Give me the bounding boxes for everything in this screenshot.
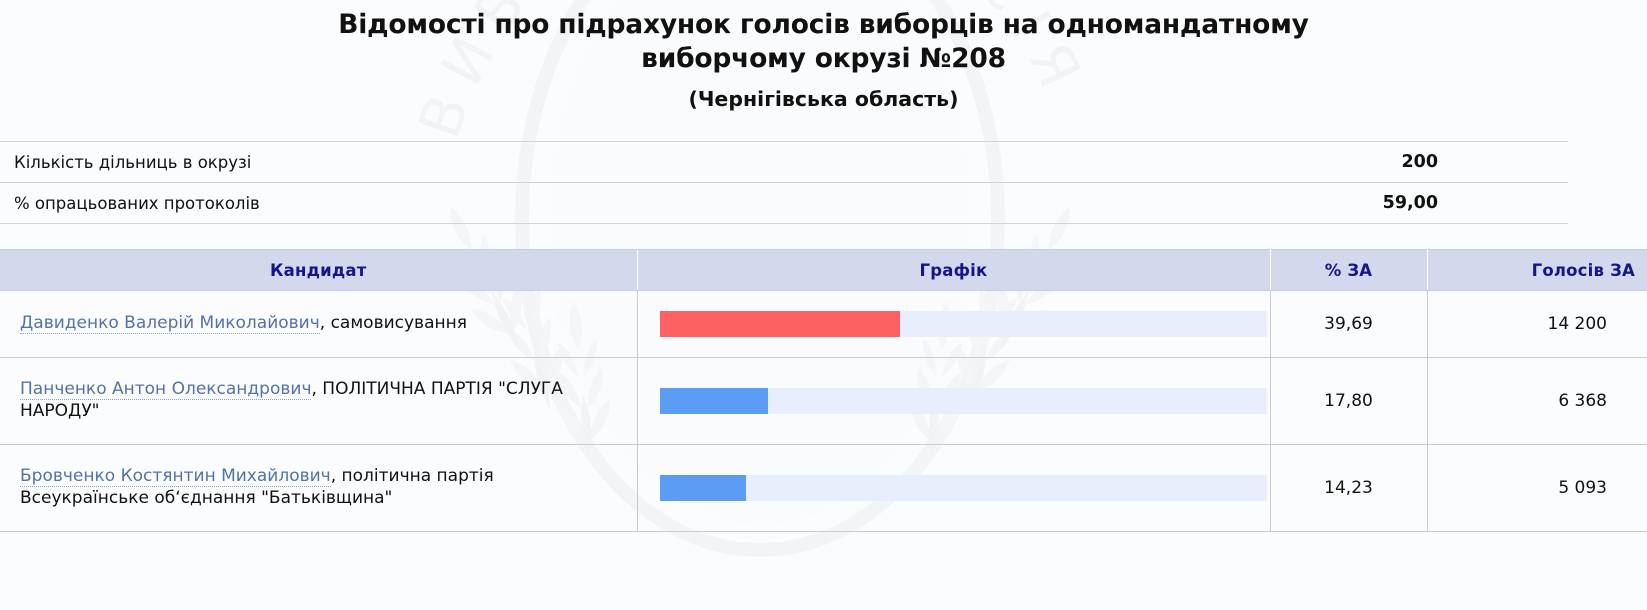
bar-fill <box>660 475 746 501</box>
bar-track <box>660 388 1267 414</box>
page-subtitle: (Чернігівська область) <box>0 87 1647 111</box>
results-header-row: Кандидат Графік % ЗА Голосів ЗА <box>0 250 1647 291</box>
percent-cell: 39,69 <box>1270 291 1427 358</box>
bar-fill <box>660 388 768 414</box>
summary-label-protocols: % опрацьованих протоколів <box>0 183 784 224</box>
page-root: Відомості про підрахунок голосів виборці… <box>0 0 1647 474</box>
candidate-name-link[interactable]: Бровченко Костянтин Михайлович <box>20 466 331 487</box>
summary-row-precincts: Кількість дільниць в окрузі 200 <box>0 142 1568 183</box>
candidate-cell: Бровченко Костянтин Михайлович, політичн… <box>0 445 637 532</box>
results-table-body: Давиденко Валерій Миколайович, самовисув… <box>0 291 1647 532</box>
table-row: Бровченко Костянтин Михайлович, політичн… <box>0 445 1647 532</box>
chart-cell <box>637 358 1270 445</box>
percent-cell: 17,80 <box>1270 358 1427 445</box>
percent-cell: 14,23 <box>1270 445 1427 532</box>
summary-value-protocols: 59,00 <box>784 183 1568 224</box>
column-header-chart[interactable]: Графік <box>637 250 1270 291</box>
candidate-cell: Панченко Антон Олександрович, ПОЛІТИЧНА … <box>0 358 637 445</box>
table-row: Давиденко Валерій Миколайович, самовисув… <box>0 291 1647 358</box>
page-title: Відомості про підрахунок голосів виборці… <box>300 8 1348 75</box>
results-table-head: Кандидат Графік % ЗА Голосів ЗА <box>0 250 1647 291</box>
candidate-party-label: , самовисування <box>320 313 467 333</box>
summary-table: Кількість дільниць в окрузі 200 % опраць… <box>0 141 1568 224</box>
summary-value-precincts: 200 <box>784 142 1568 183</box>
votes-cell: 5 093 <box>1427 445 1647 532</box>
chart-cell <box>637 291 1270 358</box>
title-block: Відомості про підрахунок голосів виборці… <box>0 0 1647 111</box>
candidate-name-link[interactable]: Давиденко Валерій Миколайович <box>20 313 320 334</box>
candidate-cell: Давиденко Валерій Миколайович, самовисув… <box>0 291 637 358</box>
results-table: Кандидат Графік % ЗА Голосів ЗА Давиденк… <box>0 249 1647 532</box>
votes-cell: 14 200 <box>1427 291 1647 358</box>
bar-track <box>660 475 1267 501</box>
candidate-name-link[interactable]: Панченко Антон Олександрович <box>20 379 311 400</box>
column-header-candidate[interactable]: Кандидат <box>0 250 637 291</box>
column-header-votes[interactable]: Голосів ЗА <box>1427 250 1647 291</box>
summary-label-precincts: Кількість дільниць в окрузі <box>0 142 784 183</box>
bar-track <box>660 311 1267 337</box>
summary-row-protocols: % опрацьованих протоколів 59,00 <box>0 183 1568 224</box>
votes-cell: 6 368 <box>1427 358 1647 445</box>
bar-fill <box>660 311 901 337</box>
table-row: Панченко Антон Олександрович, ПОЛІТИЧНА … <box>0 358 1647 445</box>
column-header-percent[interactable]: % ЗА <box>1270 250 1427 291</box>
chart-cell <box>637 445 1270 532</box>
